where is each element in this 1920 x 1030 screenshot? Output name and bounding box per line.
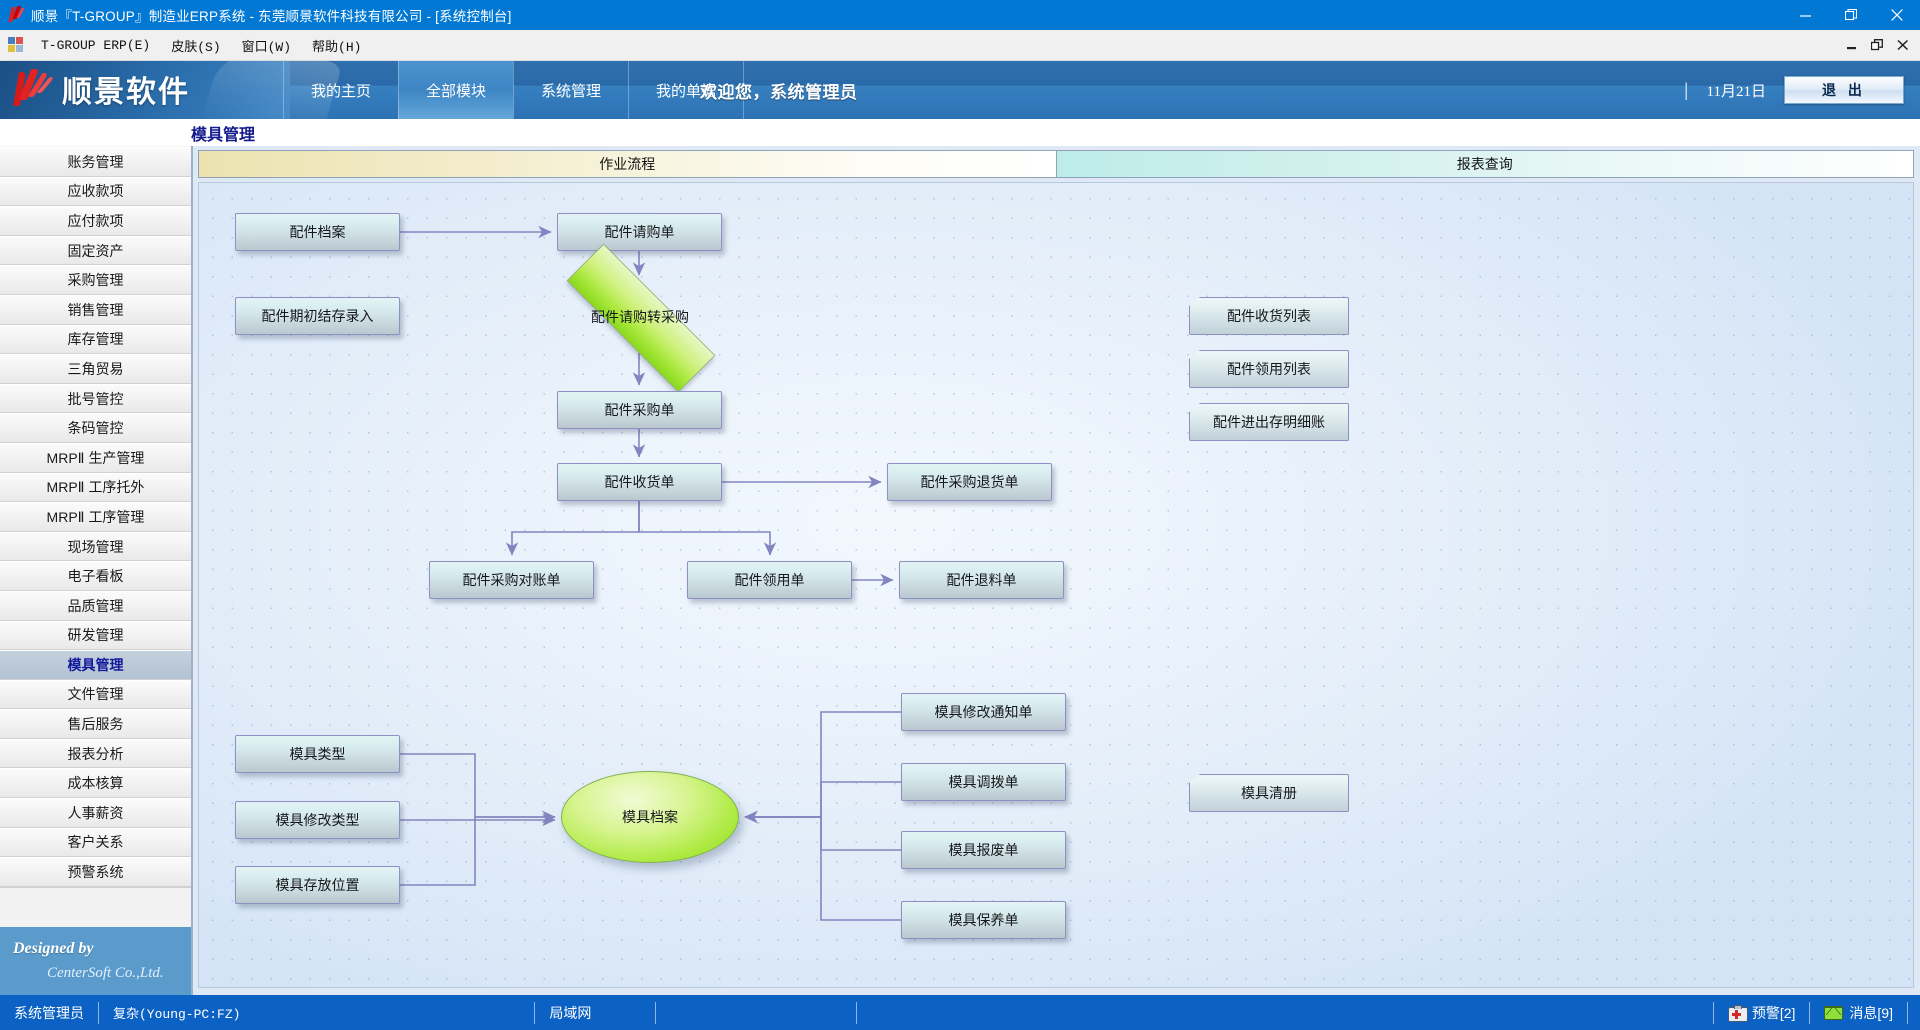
minimize-icon[interactable] — [1782, 0, 1828, 30]
logout-button[interactable]: 退 出 — [1784, 76, 1904, 104]
module-title-bar: 模具管理 — [0, 119, 1920, 146]
node-parts-requisition[interactable]: 配件请购单 — [557, 213, 722, 251]
page-title: 模具管理 — [191, 119, 255, 146]
sidebar-item-rnd[interactable]: 研发管理 — [0, 621, 191, 651]
report-node-parts-receipt-list[interactable]: 配件收货列表 — [1189, 297, 1349, 335]
tab-report-query[interactable]: 报表查询 — [1057, 151, 1914, 177]
brand-name: 顺景软件 — [62, 67, 190, 111]
sidebar-item-mold-management[interactable]: 模具管理 — [0, 650, 191, 680]
node-mold-storage-location[interactable]: 模具存放位置 — [235, 866, 400, 904]
sidebar-item-receivables[interactable]: 应收款项 — [0, 177, 191, 207]
node-label: 配件请购转采购 — [591, 307, 689, 327]
sidebar-item-sales[interactable]: 销售管理 — [0, 295, 191, 325]
menu-bar: T-GROUP ERP(E) 皮肤(S) 窗口(W) 帮助(H) — [0, 30, 1920, 61]
erp-module-icon — [8, 37, 24, 53]
sidebar-item-shopfloor[interactable]: 现场管理 — [0, 532, 191, 562]
node-mold-archive[interactable]: 模具档案 — [561, 771, 739, 863]
mdi-child-controls — [1838, 30, 1916, 60]
close-icon[interactable] — [1874, 0, 1920, 30]
sidebar-footer: Designed by CenterSoft Co.,Ltd. — [0, 927, 191, 995]
report-node-parts-issue-list[interactable]: 配件领用列表 — [1189, 350, 1349, 388]
node-parts-material-return[interactable]: 配件退料单 — [899, 561, 1064, 599]
module-workspace: 作业流程 报表查询 — [193, 146, 1920, 995]
node-requisition-to-purchase[interactable]: 配件请购转采购 — [529, 281, 751, 353]
status-network: 局域网 — [535, 995, 605, 1030]
report-node-parts-inventory-ledger[interactable]: 配件进出存明细账 — [1189, 403, 1349, 441]
status-divider — [856, 1002, 857, 1024]
status-bar: 系统管理员 复杂(Young-PC:FZ) 局域网 预警[2] 消息[9] — [0, 995, 1920, 1030]
window-title: 顺景『T-GROUP』制造业ERP系统 - 东莞顺景软件科技有限公司 - [系统… — [31, 5, 512, 25]
sidebar-list: 账务管理 应收款项 应付款项 固定资产 采购管理 销售管理 库存管理 三角贸易 … — [0, 146, 191, 887]
sidebar-item-e-kanban[interactable]: 电子看板 — [0, 561, 191, 591]
node-parts-purchase-reconciliation[interactable]: 配件采购对账单 — [429, 561, 594, 599]
banner-right-group: | 11月21日 退 出 — [1684, 61, 1904, 119]
window-controls — [1782, 0, 1920, 30]
sidebar-item-cost-accounting[interactable]: 成本核算 — [0, 768, 191, 798]
main-nav: 我的主页 全部模块 系统管理 我的单据 — [283, 61, 744, 119]
node-parts-receipt[interactable]: 配件收货单 — [557, 463, 722, 501]
brand-banner: 顺景软件 我的主页 全部模块 系统管理 我的单据 欢迎您，系统管理员 | 11月… — [0, 61, 1920, 119]
report-node-mold-register[interactable]: 模具清册 — [1189, 774, 1349, 812]
window-titlebar: 顺景『T-GROUP』制造业ERP系统 - 东莞顺景软件科技有限公司 - [系统… — [0, 0, 1920, 30]
sidebar-filler — [0, 887, 191, 927]
nav-item-home[interactable]: 我的主页 — [283, 61, 398, 119]
sidebar-item-mrp2-outsourcing[interactable]: MRPⅡ 工序托外 — [0, 473, 191, 503]
sidebar-item-mrp2-process[interactable]: MRPⅡ 工序管理 — [0, 502, 191, 532]
sidebar-item-fixed-assets[interactable]: 固定资产 — [0, 236, 191, 266]
sidebar-item-quality[interactable]: 品质管理 — [0, 591, 191, 621]
banner-divider: | — [1684, 80, 1689, 101]
flowchart-canvas: 配件档案 配件请购单 配件期初结存录入 配件请购转采购 配件采购单 配件收货单 … — [198, 182, 1914, 988]
node-mold-maintenance[interactable]: 模具保养单 — [901, 901, 1066, 939]
app-logo-icon — [7, 6, 25, 24]
status-user: 系统管理员 — [0, 995, 98, 1030]
status-message-button[interactable]: 消息[9] — [1810, 995, 1907, 1030]
nav-item-all-modules[interactable]: 全部模块 — [398, 61, 513, 119]
designed-by-label: Designed by — [13, 940, 93, 958]
mail-icon — [1824, 1006, 1843, 1020]
node-mold-modification-type[interactable]: 模具修改类型 — [235, 801, 400, 839]
current-date: 11月21日 — [1707, 80, 1766, 101]
status-alert-button[interactable]: 预警[2] — [1714, 995, 1810, 1030]
status-message-label: 消息[9] — [1849, 1003, 1893, 1023]
menu-item-window[interactable]: 窗口(W) — [233, 32, 300, 59]
mdi-close-icon[interactable] — [1890, 33, 1916, 57]
welcome-message: 欢迎您，系统管理员 — [700, 61, 858, 119]
sidebar-item-payables[interactable]: 应付款项 — [0, 206, 191, 236]
sidebar-item-barcode-control[interactable]: 条码管控 — [0, 413, 191, 443]
menu-item-skin[interactable]: 皮肤(S) — [162, 32, 229, 59]
maximize-icon[interactable] — [1828, 0, 1874, 30]
status-server: 复杂(Young-PC:FZ) — [99, 995, 254, 1030]
sidebar-item-mrp2-production[interactable]: MRPⅡ 生产管理 — [0, 443, 191, 473]
alert-kit-icon — [1728, 1005, 1746, 1020]
status-divider — [655, 1002, 656, 1024]
nav-item-system-admin[interactable]: 系统管理 — [513, 61, 628, 119]
sidebar-item-documents[interactable]: 文件管理 — [0, 680, 191, 710]
brand-logo: 顺景软件 — [12, 67, 190, 111]
node-parts-purchase-return[interactable]: 配件采购退货单 — [887, 463, 1052, 501]
status-alert-label: 预警[2] — [1752, 1003, 1796, 1023]
node-mold-modification-notice[interactable]: 模具修改通知单 — [901, 693, 1066, 731]
designer-company-label: CenterSoft Co.,Ltd. — [47, 965, 164, 982]
node-mold-scrap[interactable]: 模具报废单 — [901, 831, 1066, 869]
node-mold-transfer[interactable]: 模具调拨单 — [901, 763, 1066, 801]
node-parts-archive[interactable]: 配件档案 — [235, 213, 400, 251]
erp-application-window: 顺景『T-GROUP』制造业ERP系统 - 东莞顺景软件科技有限公司 - [系统… — [0, 0, 1920, 1030]
sidebar-item-alert-system[interactable]: 预警系统 — [0, 857, 191, 887]
sidebar-item-accounting[interactable]: 账务管理 — [0, 147, 191, 177]
node-mold-type[interactable]: 模具类型 — [235, 735, 400, 773]
flame-logo-icon — [12, 67, 56, 111]
node-parts-opening-balance-entry[interactable]: 配件期初结存录入 — [235, 297, 400, 335]
node-parts-issue[interactable]: 配件领用单 — [687, 561, 852, 599]
module-sidebar: 账务管理 应收款项 应付款项 固定资产 采购管理 销售管理 库存管理 三角贸易 … — [0, 146, 193, 995]
status-divider — [1907, 1002, 1908, 1024]
menu-item-erp[interactable]: T-GROUP ERP(E) — [32, 34, 159, 57]
sidebar-item-after-sales[interactable]: 售后服务 — [0, 709, 191, 739]
sidebar-item-purchasing[interactable]: 采购管理 — [0, 265, 191, 295]
node-parts-purchase-order[interactable]: 配件采购单 — [557, 391, 722, 429]
sidebar-item-lot-control[interactable]: 批号管控 — [0, 384, 191, 414]
sidebar-item-crm[interactable]: 客户关系 — [0, 828, 191, 858]
tab-work-flow[interactable]: 作业流程 — [199, 151, 1057, 177]
menu-item-help[interactable]: 帮助(H) — [303, 32, 370, 59]
mdi-restore-icon[interactable] — [1864, 33, 1890, 57]
status-right-group: 预警[2] 消息[9] — [1713, 995, 1920, 1030]
mdi-minimize-icon[interactable] — [1838, 33, 1864, 57]
sidebar-item-inventory[interactable]: 库存管理 — [0, 325, 191, 355]
sidebar-item-report-analysis[interactable]: 报表分析 — [0, 739, 191, 769]
workspace-tabstrip: 作业流程 报表查询 — [198, 150, 1914, 178]
sidebar-item-hr-payroll[interactable]: 人事薪资 — [0, 798, 191, 828]
sidebar-item-triangle-trade[interactable]: 三角贸易 — [0, 354, 191, 384]
